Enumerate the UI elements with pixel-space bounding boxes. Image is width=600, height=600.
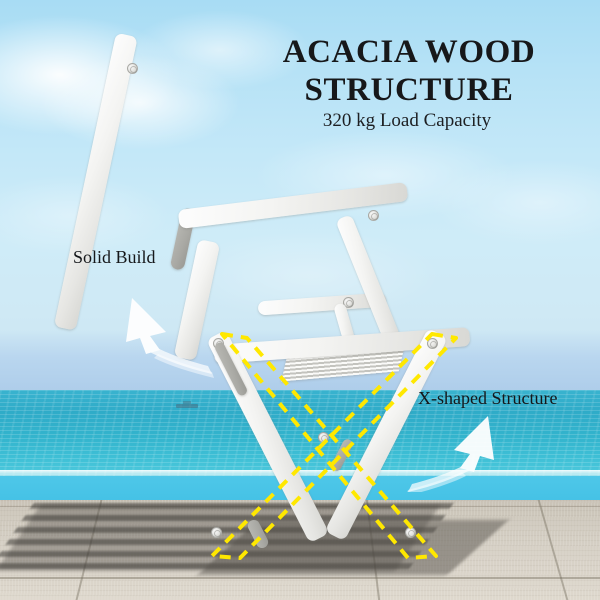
callout-solid-build: Solid Build — [73, 247, 156, 268]
chair-foot-bolt — [211, 527, 222, 538]
page-title: Acacia Wood Structure — [244, 34, 574, 109]
chair-bolt — [368, 210, 379, 221]
headline-line-2: Structure — [305, 72, 514, 108]
chair-bolt — [127, 63, 138, 74]
chair-back-post — [54, 33, 138, 331]
headline-line-1: Acacia Wood — [283, 34, 536, 70]
callout-x-shaped-structure: X-shaped Structure — [418, 388, 557, 409]
chair-back-rail-upper — [178, 182, 409, 229]
chair-bolt — [427, 338, 438, 349]
product-feature-image: Acacia Wood Structure 320 kg Load Capaci… — [0, 0, 600, 600]
chair-leg-inner-face — [246, 518, 270, 550]
subtitle-load-capacity: 320 kg Load Capacity — [242, 110, 572, 132]
chair-foot-bolt — [405, 527, 416, 538]
chair-leg-inner-face — [330, 438, 354, 473]
chair-pivot-bolt-center — [318, 432, 329, 443]
